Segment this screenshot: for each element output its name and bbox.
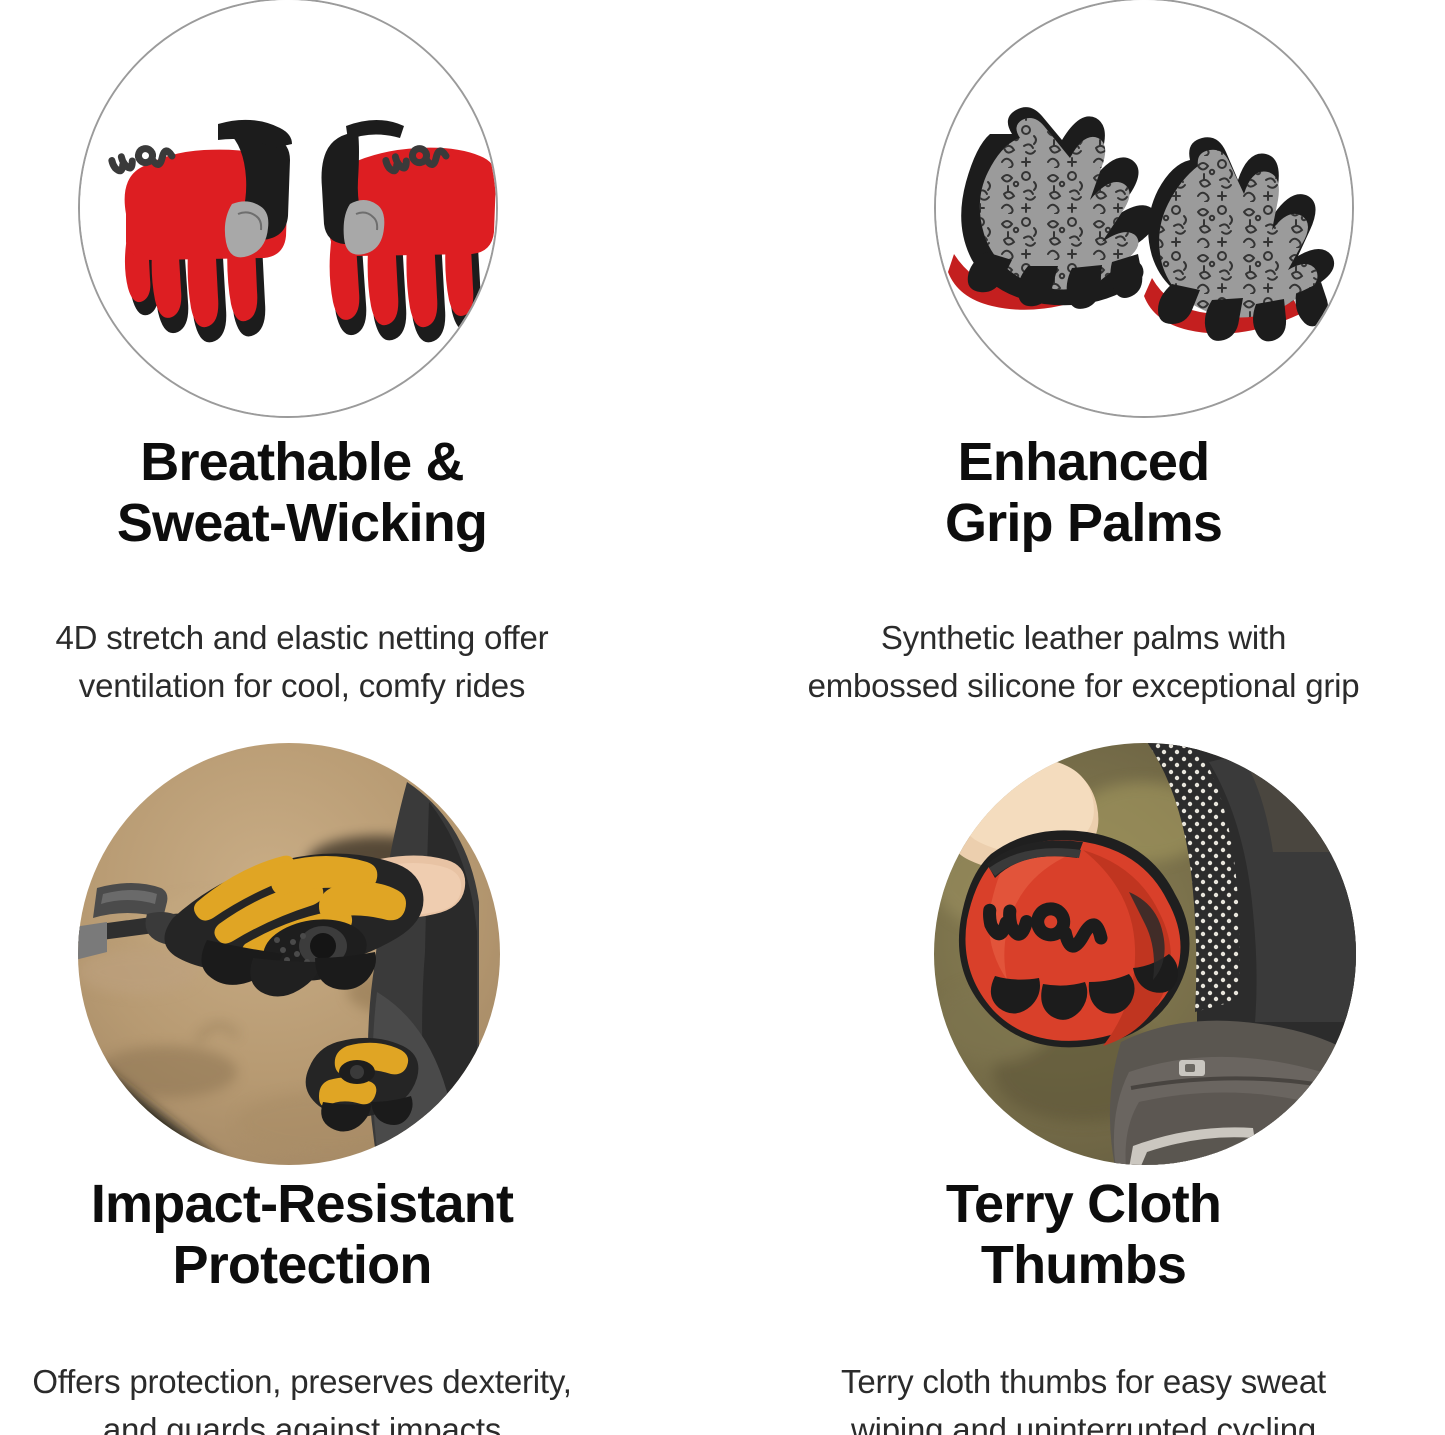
feature-text-block: Terry Cloth Thumbs Terry cloth thumbs fo… (722, 1174, 1445, 1435)
feature-description: Terry cloth thumbs for easy sweat wiping… (728, 1358, 1439, 1435)
feature-card-terry-cloth-thumbs: Terry Cloth Thumbs Terry cloth thumbs fo… (722, 722, 1445, 1435)
feature-description: 4D stretch and elastic netting offer ven… (0, 614, 604, 710)
feature-text-block: Enhanced Grip Palms Synthetic leather pa… (722, 432, 1445, 710)
feature-heading: Terry Cloth Thumbs (728, 1174, 1439, 1296)
feature-description: Synthetic leather palms with embossed si… (728, 614, 1439, 710)
feature-card-enhanced-grip-palms: Enhanced Grip Palms Synthetic leather pa… (722, 0, 1445, 722)
feature-description: Offers protection, preserves dexterity, … (0, 1358, 604, 1435)
feature-card-breathable-sweat-wicking: Breathable & Sweat-Wicking 4D stretch an… (0, 0, 722, 722)
feature-heading: Enhanced Grip Palms (728, 432, 1439, 554)
rider-hand-on-handlebar-photo (77, 742, 501, 1166)
feature-grid: Breathable & Sweat-Wicking 4D stretch an… (0, 0, 1445, 1435)
red-black-gloves-pair-icon (78, 0, 498, 418)
feature-heading: Breathable & Sweat-Wicking (0, 432, 604, 554)
red-glove-on-rider-hip-photo (933, 742, 1357, 1166)
feature-text-block: Breathable & Sweat-Wicking 4D stretch an… (0, 432, 722, 710)
feature-heading: Impact-Resistant Protection (0, 1174, 604, 1296)
feature-card-impact-resistant-protection: Impact-Resistant Protection Offers prote… (0, 722, 722, 1435)
gray-grip-palm-gloves-pair-icon (934, 0, 1354, 418)
feature-text-block: Impact-Resistant Protection Offers prote… (0, 1174, 722, 1435)
